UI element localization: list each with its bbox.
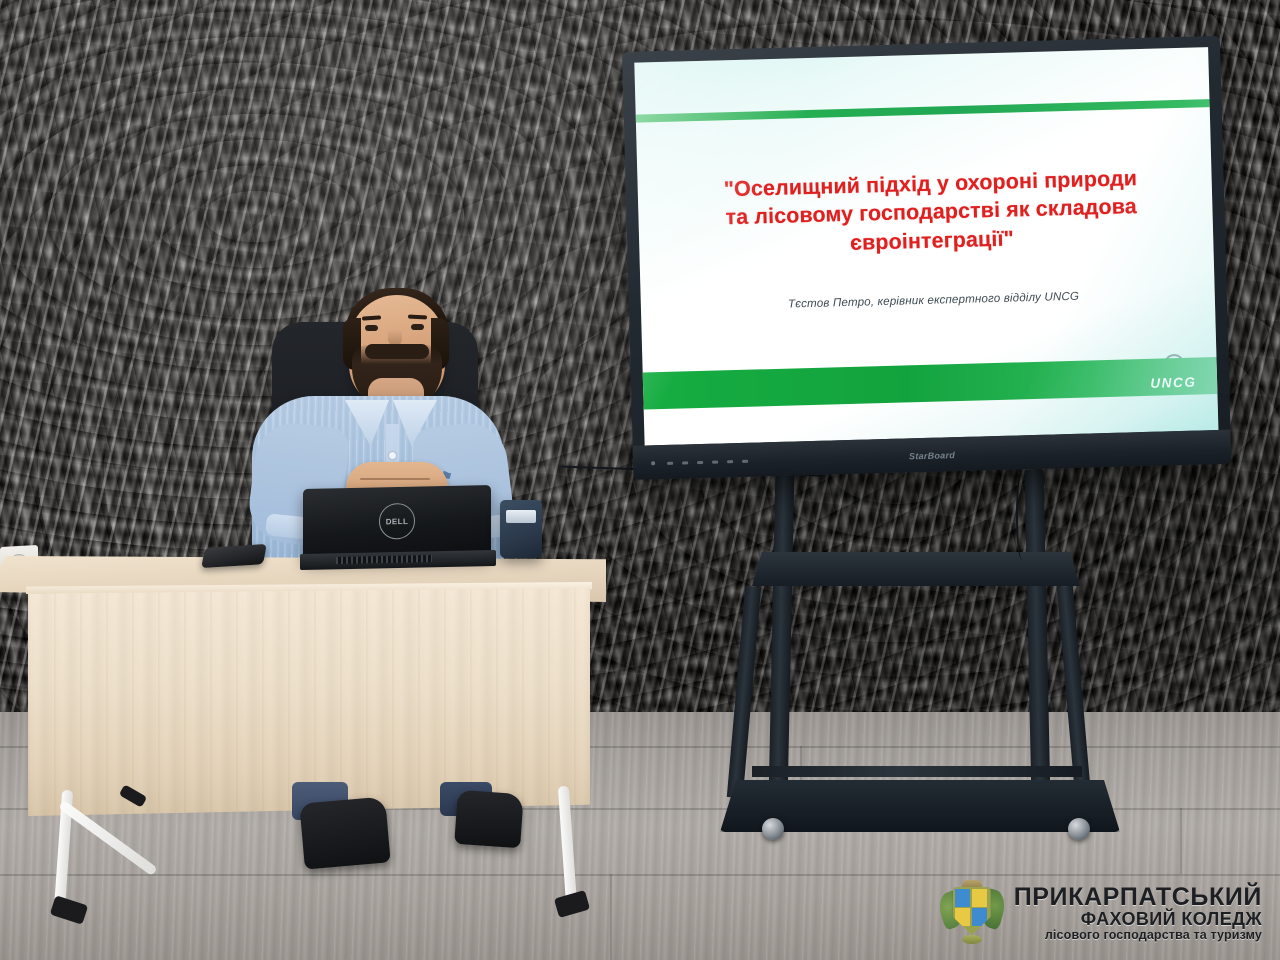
photo-scene: "Оселищний підхід у охороні природи та л… <box>0 0 1280 960</box>
college-watermark: ПРИКАРПАТСЬКИЙ ФАХОВИЙ КОЛЕДЖ лісового г… <box>940 880 1262 946</box>
shirt-button-1 <box>389 452 396 459</box>
laptop[interactable]: DELL <box>303 485 491 561</box>
dell-logo-icon: DELL <box>379 503 415 540</box>
slide-bottom-accent-band <box>643 357 1218 409</box>
display-brand-label: StarBoard <box>909 450 955 461</box>
smartphone[interactable] <box>201 544 267 568</box>
interactive-display[interactable]: "Оселищний підхід у охороні природи та л… <box>622 36 1231 480</box>
eye-left <box>365 325 378 331</box>
crest-quarter-tree <box>972 889 987 907</box>
slide-top-accent-line <box>636 99 1210 123</box>
slide-screen[interactable]: "Оселищний підхід у охороні природи та л… <box>634 47 1218 445</box>
watermark-line-2: ФАХОВИЙ КОЛЕДЖ <box>1081 910 1262 929</box>
button-icon-4[interactable] <box>712 461 718 464</box>
button-icon-6[interactable] <box>742 460 748 463</box>
trolley-shelf <box>752 552 1080 586</box>
display-cable <box>1016 470 1028 560</box>
shoe-right <box>454 790 524 848</box>
slide-title: "Оселищний підхід у охороні природи та л… <box>678 163 1185 262</box>
shoe-left <box>299 796 390 869</box>
watermark-line-1: ПРИКАРПАТСЬКИЙ <box>1014 884 1262 910</box>
uncg-logo-text: UNCG <box>1150 375 1197 391</box>
power-adapter-label <box>506 510 536 523</box>
crest-quarter-books <box>955 889 970 907</box>
button-icon-5[interactable] <box>727 460 733 463</box>
slide-subtitle: Тєстов Петро, керівник експертного відді… <box>687 287 1181 313</box>
crest-icon <box>940 880 1004 946</box>
power-indicator-icon <box>651 461 655 465</box>
watermark-line-3: лісового господарства та туризму <box>1045 929 1262 942</box>
caster-wheel-right <box>1068 818 1090 840</box>
watermark-text: ПРИКАРПАТСЬКИЙ ФАХОВИЙ КОЛЕДЖ лісового г… <box>1014 884 1262 942</box>
caster-wheel-left <box>762 818 784 840</box>
eye-right <box>411 324 424 330</box>
power-adapter <box>500 500 542 558</box>
trolley-crossbar <box>752 766 1082 777</box>
button-icon-1[interactable] <box>667 462 673 465</box>
crest-shield <box>953 887 991 935</box>
button-icon-2[interactable] <box>682 461 688 464</box>
display-control-buttons[interactable] <box>667 460 748 465</box>
crest-base <box>962 935 982 944</box>
mustache <box>365 344 429 359</box>
button-icon-3[interactable] <box>697 461 703 464</box>
